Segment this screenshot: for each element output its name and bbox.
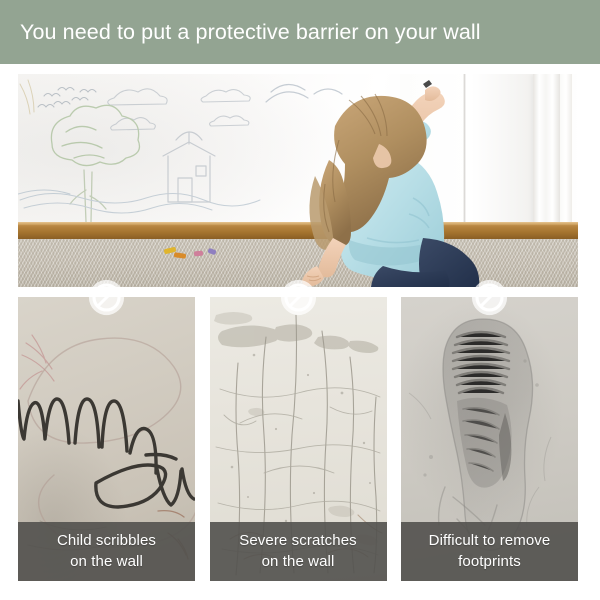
problem-panels: Child scribbleson the wall [18, 297, 578, 581]
page-title: You need to put a protective barrier on … [0, 20, 481, 45]
hero-photo-scene [18, 74, 578, 287]
door-casing-molding [533, 74, 561, 226]
caption-line-2: footprints [454, 553, 525, 570]
prohibition-badge-3 [471, 279, 508, 316]
prohibition-icon [471, 279, 508, 316]
panel-caption-footprints: Difficult to removefootprints [401, 522, 578, 581]
promo-infographic: You need to put a protective barrier on … [0, 0, 600, 600]
panel-caption-scratches: Severe scratcheson the wall [210, 522, 387, 581]
panel-caption-text: Difficult to removefootprints [421, 531, 559, 572]
caption-line-2: on the wall [66, 553, 147, 570]
prohibition-badge-1 [88, 279, 125, 316]
prohibition-icon [88, 279, 125, 316]
door-casing-edge [560, 74, 572, 226]
caption-line-2: on the wall [258, 553, 339, 570]
prohibition-badge-2 [280, 279, 317, 316]
girl-drawing-figure-icon [263, 80, 493, 287]
crayon-pink [194, 251, 203, 257]
caption-line-1: Severe scratches [235, 532, 360, 549]
caption-line-1: Child scribbles [53, 532, 160, 549]
prohibition-icon [280, 279, 317, 316]
header-banner: You need to put a protective barrier on … [0, 0, 600, 64]
panel-severe-scratches[interactable]: Severe scratcheson the wall [210, 297, 387, 581]
panel-child-scribbles[interactable]: Child scribbleson the wall [18, 297, 195, 581]
panel-footprints[interactable]: Difficult to removefootprints [401, 297, 578, 581]
panel-caption-text: Child scribbleson the wall [49, 531, 164, 572]
hero-photo [18, 74, 578, 287]
panel-caption-text: Severe scratcheson the wall [231, 531, 364, 572]
panel-caption-scribbles: Child scribbleson the wall [18, 522, 195, 581]
caption-line-1: Difficult to remove [425, 532, 555, 549]
